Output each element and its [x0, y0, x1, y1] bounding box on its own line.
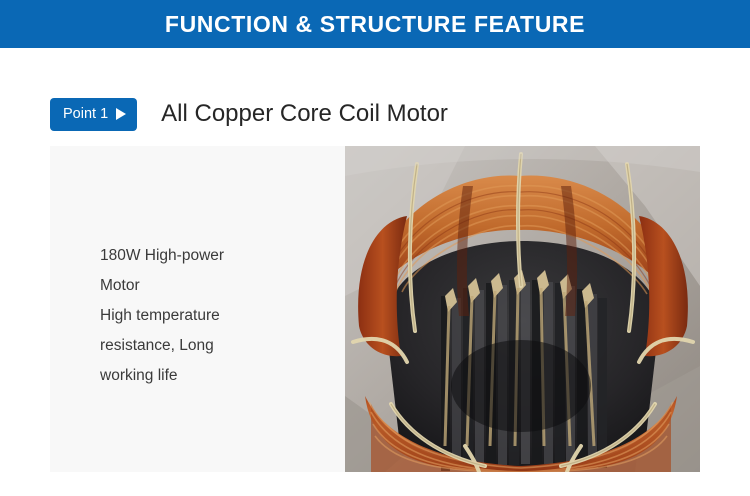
motor-stator-photo: [345, 146, 700, 472]
page-title: FUNCTION & STRUCTURE FEATURE: [165, 13, 585, 36]
point-heading: All Copper Core Coil Motor: [161, 102, 448, 126]
point-section-header: Point 1 All Copper Core Coil Motor: [50, 97, 448, 131]
point-badge: Point 1: [50, 98, 137, 131]
triangle-right-icon: [116, 108, 126, 120]
motor-stator-illustration: [345, 146, 700, 472]
description-line: Motor: [100, 271, 320, 301]
description-line: working life: [100, 361, 320, 391]
feature-description: 180W High-power Motor High temperature r…: [100, 241, 320, 391]
point-badge-label: Point 1: [63, 107, 108, 122]
feature-text-column: 180W High-power Motor High temperature r…: [50, 146, 345, 472]
description-line: 180W High-power: [100, 241, 320, 271]
description-line: resistance, Long: [100, 331, 320, 361]
feature-panel: 180W High-power Motor High temperature r…: [50, 146, 700, 472]
header-banner: FUNCTION & STRUCTURE FEATURE: [0, 0, 750, 48]
description-line: High temperature: [100, 301, 320, 331]
